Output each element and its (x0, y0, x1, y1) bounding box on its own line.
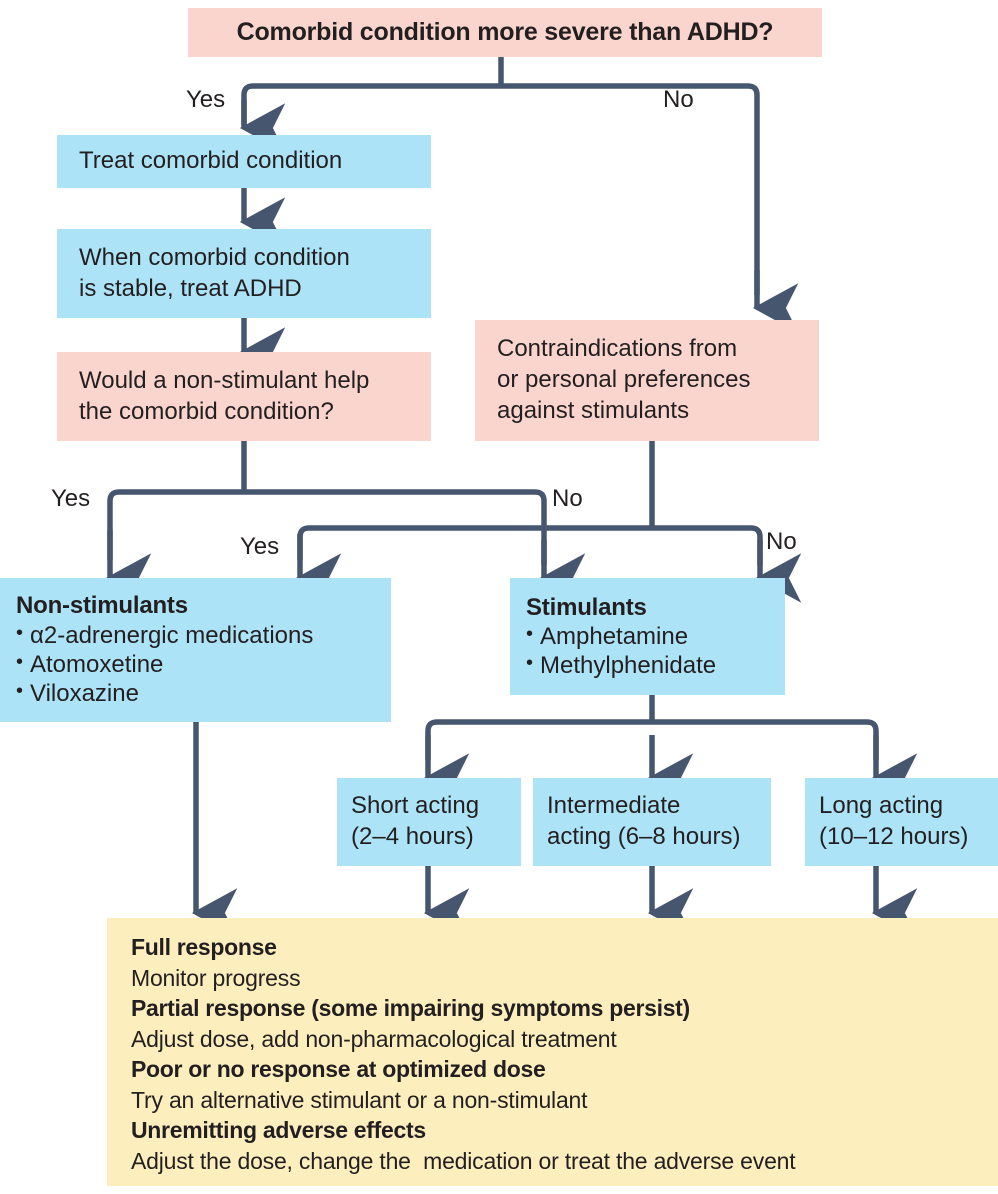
decision-comorbid-severity: Comorbid condition more severe than ADHD… (188, 8, 822, 57)
node-when-stable-line1: When comorbid condition (79, 243, 419, 274)
response-row-1-detail: Adjust dose, add non-pharmacological tre… (131, 1024, 982, 1055)
node-intermediate-acting-line2: acting (6–8 hours) (547, 822, 759, 853)
node-intermediate-acting: Intermediate acting (6–8 hours) (533, 778, 771, 866)
edge-label-contra-no: No (766, 528, 797, 556)
node-long-acting: Long acting (10–12 hours) (805, 778, 998, 866)
response-row-1-title: Partial response (some impairing symptom… (131, 993, 982, 1024)
decision-nonstimulant-help: Would a non-stimulant help the comorbid … (57, 352, 431, 441)
response-row-3-detail: Adjust the dose, change the medication o… (131, 1146, 982, 1177)
node-nonstimulants: Non-stimulants α2-adrenergic medications… (0, 578, 391, 722)
node-nonstimulants-header: Non-stimulants (16, 591, 381, 620)
node-treat-comorbid-label: Treat comorbid condition (79, 146, 419, 177)
response-row-2-detail: Try an alternative stimulant or a non-st… (131, 1085, 982, 1116)
node-stimulants-item-0: Amphetamine (526, 622, 775, 651)
response-row-3-title: Unremitting adverse effects (131, 1115, 982, 1146)
node-when-stable: When comorbid condition is stable, treat… (57, 229, 431, 318)
node-long-acting-line1: Long acting (819, 791, 986, 822)
response-row-0-detail: Monitor progress (131, 963, 982, 994)
node-short-acting-line2: (2–4 hours) (351, 822, 509, 853)
decision-contraindications-line3: against stimulants (497, 396, 807, 427)
edge-label-question-yes: Yes (51, 485, 90, 513)
node-nonstimulants-item-2: Viloxazine (16, 679, 381, 708)
decision-contraindications-line1: Contraindications from (497, 334, 807, 365)
decision-nonstimulant-help-line1: Would a non-stimulant help (79, 366, 419, 397)
decision-contraindications: Contraindications from or personal prefe… (475, 320, 819, 441)
node-response-outcomes: Full response Monitor progress Partial r… (107, 918, 998, 1186)
node-stimulants: Stimulants Amphetamine Methylphenidate (510, 578, 785, 695)
node-treat-comorbid: Treat comorbid condition (57, 135, 431, 188)
node-short-acting: Short acting (2–4 hours) (337, 778, 521, 866)
decision-contraindications-line2: or personal preferences (497, 365, 807, 396)
edge-label-question-no: No (552, 485, 583, 513)
edge-label-contra-yes: Yes (240, 533, 279, 561)
edge-label-top-yes: Yes (186, 86, 225, 114)
node-nonstimulants-item-1: Atomoxetine (16, 650, 381, 679)
response-row-0-title: Full response (131, 932, 982, 963)
edge-contra-split (300, 528, 760, 565)
node-short-acting-line1: Short acting (351, 791, 509, 822)
node-intermediate-acting-line1: Intermediate (547, 791, 759, 822)
edge-label-top-no: No (663, 86, 694, 114)
node-stimulants-item-1: Methylphenidate (526, 651, 775, 680)
node-nonstimulants-item-0: α2-adrenergic medications (16, 621, 381, 650)
decision-nonstimulant-help-line2: the comorbid condition? (79, 397, 419, 428)
node-stimulants-header: Stimulants (526, 593, 775, 622)
node-long-acting-line2: (10–12 hours) (819, 822, 986, 853)
node-when-stable-line2: is stable, treat ADHD (79, 274, 419, 305)
response-row-2-title: Poor or no response at optimized dose (131, 1054, 982, 1085)
decision-comorbid-severity-label: Comorbid condition more severe than ADHD… (237, 18, 774, 47)
